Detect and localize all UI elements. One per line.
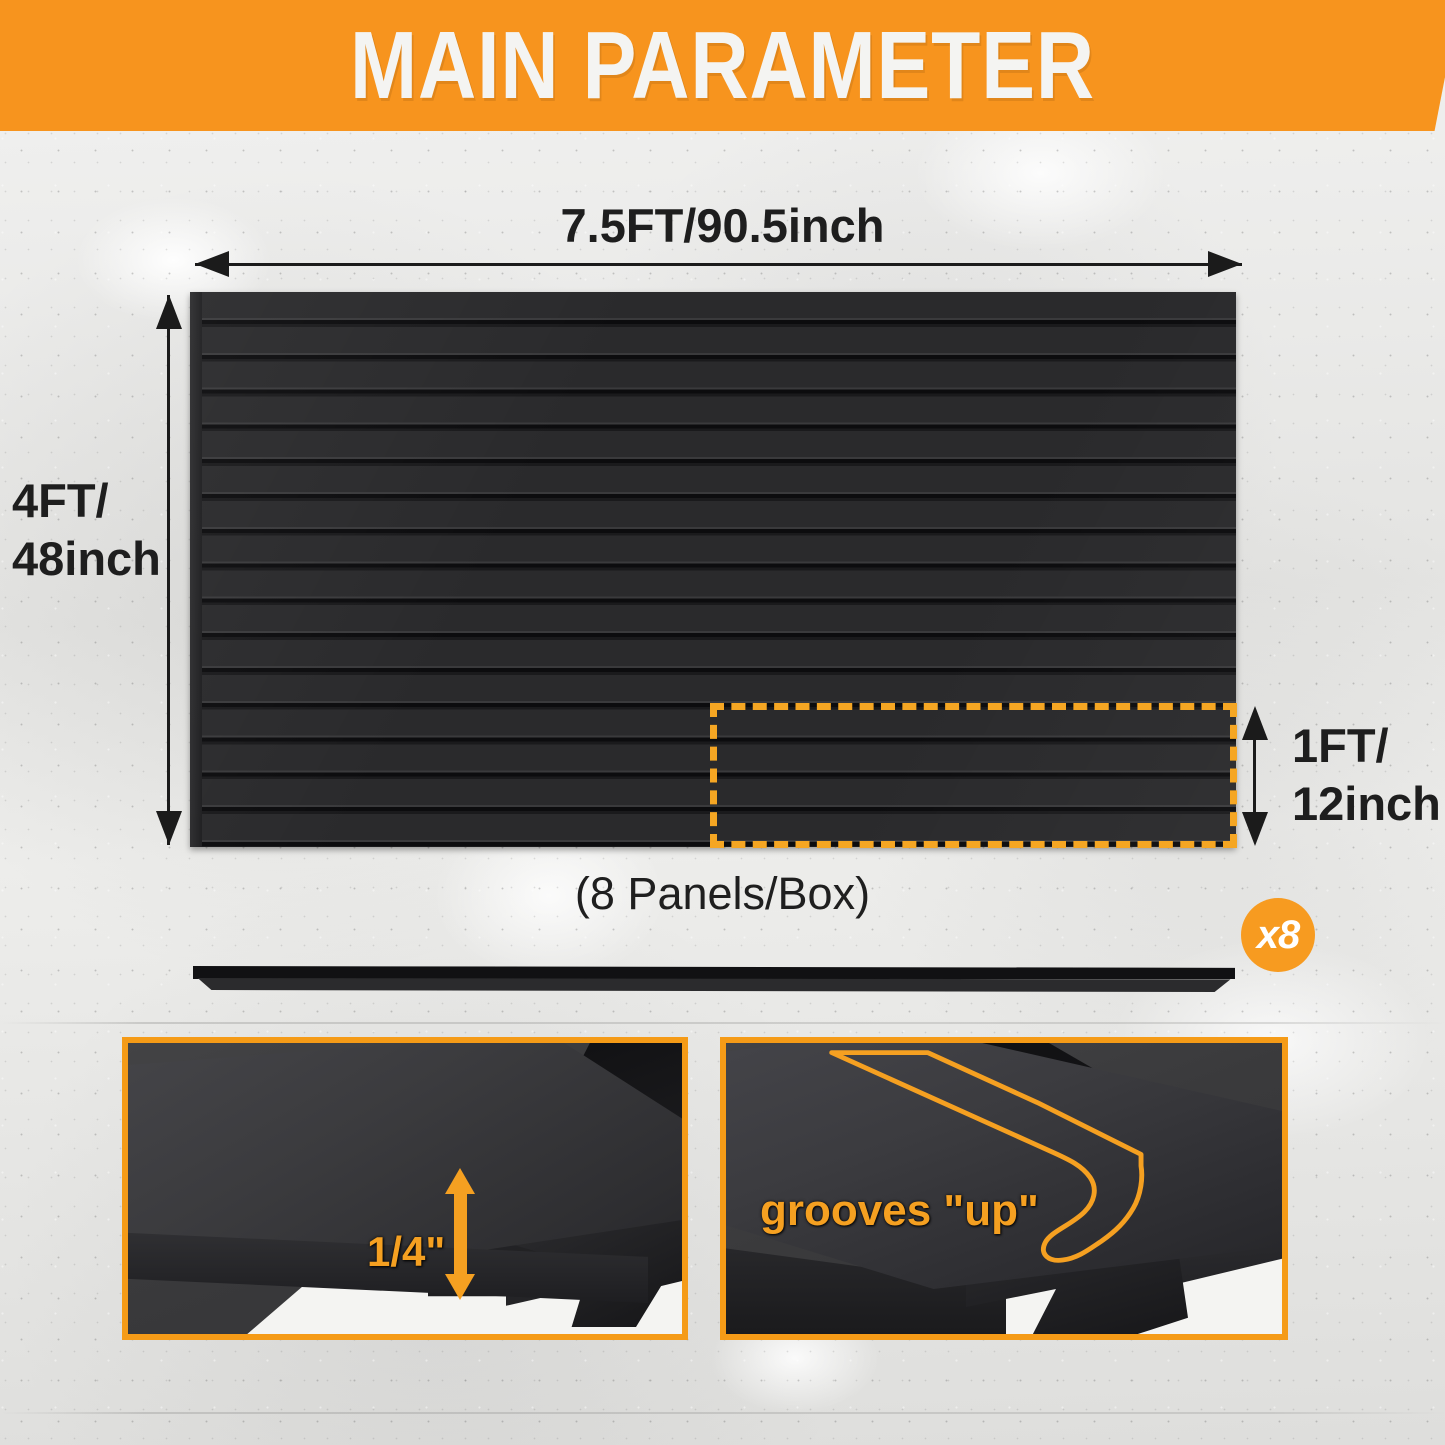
width-dimension-line	[195, 263, 1242, 266]
width-dimension-label: 7.5FT/90.5inch	[0, 198, 1445, 253]
section-dimension-line1: 1FT/	[1292, 717, 1441, 775]
width-arrow-left-icon	[195, 251, 229, 277]
width-arrow-right-icon	[1208, 251, 1242, 277]
section-dimension-label: 1FT/ 12inch	[1292, 717, 1441, 833]
quantity-badge: x8	[1241, 898, 1315, 972]
thickness-arrow-up-icon	[445, 1168, 475, 1194]
panels-per-box-label: (8 Panels/Box)	[0, 868, 1445, 920]
panel-edge-bottom	[185, 978, 1241, 992]
height-dimension-label: 4FT/ 48inch	[12, 472, 161, 588]
section-highlight-box	[710, 703, 1237, 848]
height-arrow-up-icon	[156, 295, 182, 329]
panel-edge-view	[185, 966, 1241, 993]
concrete-seam	[0, 1022, 1445, 1024]
panel-left-edge	[190, 292, 202, 847]
thickness-arrow-down-icon	[445, 1274, 475, 1300]
header-banner: MAIN PARAMETER	[0, 0, 1445, 131]
height-arrow-down-icon	[156, 811, 182, 845]
height-dimension-line	[167, 295, 170, 845]
thickness-arrow-line	[454, 1190, 467, 1278]
height-dimension-line2: 48inch	[12, 530, 161, 588]
page-title: MAIN PARAMETER	[116, 14, 1330, 118]
height-dimension-line1: 4FT/	[12, 472, 161, 530]
grooves-orientation-label: grooves "up"	[760, 1186, 1039, 1236]
concrete-seam	[0, 1412, 1445, 1414]
panel-edge-top	[193, 966, 1235, 979]
detail-photo-thickness	[122, 1037, 688, 1340]
section-dimension-line2: 12inch	[1292, 775, 1441, 833]
product-infographic: MAIN PARAMETER 7.5FT/90.5inch 4FT/ 48inc…	[0, 0, 1445, 1445]
section-arrow-up-icon	[1242, 706, 1268, 740]
section-arrow-down-icon	[1242, 812, 1268, 846]
thickness-label: 1/4"	[367, 1228, 445, 1276]
